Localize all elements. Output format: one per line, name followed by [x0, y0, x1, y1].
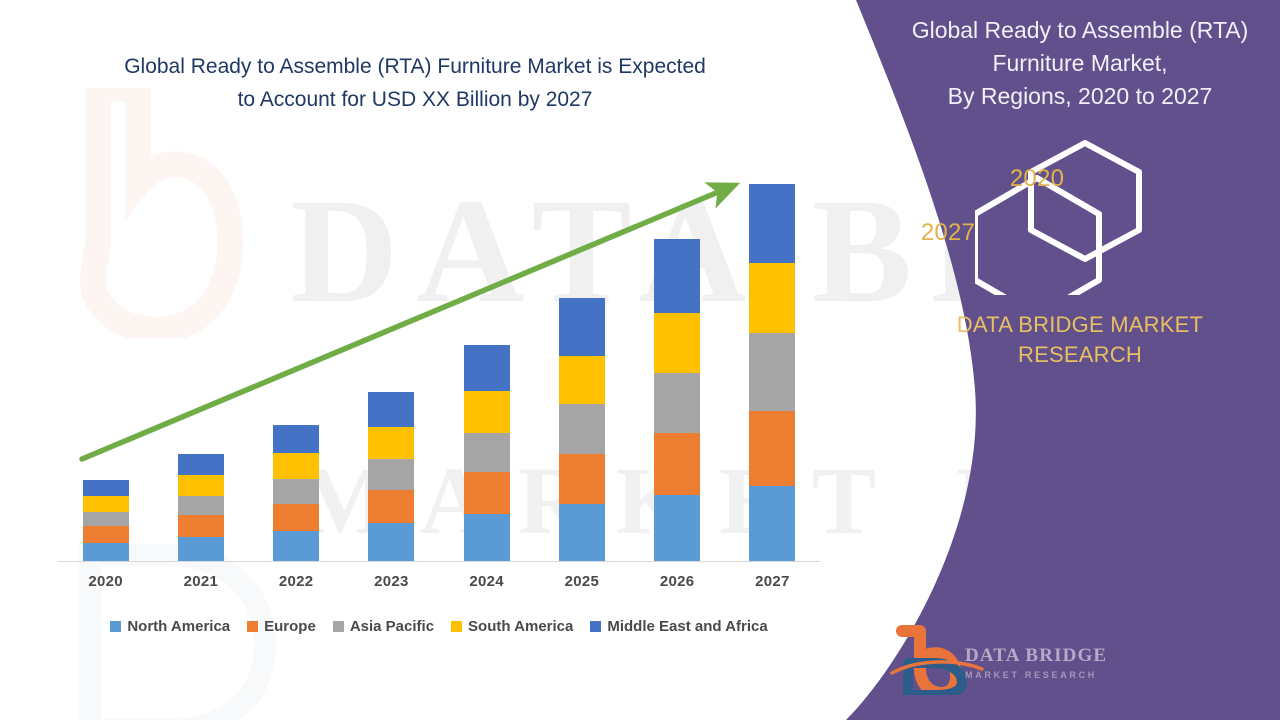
brand-line-1: DATA BRIDGE MARKET — [880, 310, 1280, 340]
brand-line-2: RESEARCH — [880, 340, 1280, 370]
hexagon-badges-icon — [975, 140, 1190, 295]
infographic-canvas: DATA BRIDGE MARKET RESEARCH Global Ready… — [0, 0, 1280, 720]
brand-name: DATA BRIDGE MARKET RESEARCH — [880, 310, 1280, 370]
hexagon-label-2027: 2027 — [898, 219, 998, 247]
panel-content: Global Ready to Assemble (RTA) Furniture… — [880, 0, 1280, 720]
panel-title-line-2: Furniture Market, — [880, 47, 1280, 80]
hexagon-2020-shape — [1031, 143, 1139, 259]
panel-title-line-1: Global Ready to Assemble (RTA) — [880, 14, 1280, 47]
panel-title: Global Ready to Assemble (RTA) Furniture… — [880, 14, 1280, 113]
logo-wordmark-line-1: DATA BRIDGE — [965, 645, 1115, 667]
hexagon-label-2020: 2020 — [992, 165, 1082, 193]
logo-wordmark-line-2: MARKET RESEARCH — [965, 670, 1115, 680]
panel-title-line-3: By Regions, 2020 to 2027 — [880, 80, 1280, 113]
logo-wordmark: DATA BRIDGE MARKET RESEARCH — [965, 645, 1115, 680]
